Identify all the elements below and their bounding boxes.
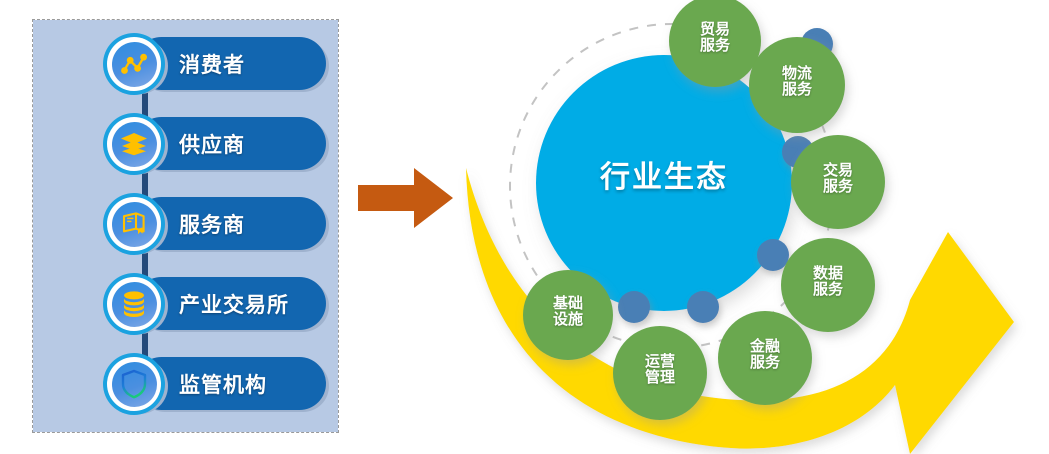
badge-white-ring: [107, 357, 161, 411]
data-services-circle: [781, 238, 875, 332]
badge-white-ring: [107, 197, 161, 251]
network-nodes-icon: [119, 51, 149, 77]
badge-white-ring: [107, 117, 161, 171]
badge-inner-disc: [112, 282, 157, 327]
participant-row-0[interactable]: 消费者: [33, 32, 338, 100]
ecosystem-diagram: 行业生态 贸易 服务 物流 服务 交易 服务 数据 服务 金融 服务 运营 管理…: [440, 0, 1049, 454]
participant-badge-3[interactable]: [103, 273, 165, 335]
certificate-book-icon: [120, 210, 148, 238]
badge-inner-disc: [112, 122, 157, 167]
logistics-services-circle: [749, 37, 845, 133]
participant-list-panel[interactable]: 消费者: [33, 20, 338, 432]
stacked-layers-icon: [120, 131, 148, 157]
accent-dot-3: [618, 291, 650, 323]
participant-label-3: 产业交易所: [179, 289, 289, 319]
financial-services-circle: [718, 311, 812, 405]
participant-row-1[interactable]: 供应商: [33, 112, 338, 180]
participant-label-0: 消费者: [179, 49, 245, 79]
badge-inner-disc: [112, 362, 157, 407]
participant-badge-2[interactable]: [103, 193, 165, 255]
database-stack-icon: [121, 290, 147, 318]
badge-inner-disc: [112, 42, 157, 87]
accent-dot-4: [687, 291, 719, 323]
participant-label-1: 供应商: [179, 129, 245, 159]
badge-white-ring: [107, 37, 161, 91]
participant-badge-0[interactable]: [103, 33, 165, 95]
badge-white-ring: [107, 277, 161, 331]
participant-badge-4[interactable]: [103, 353, 165, 415]
infrastructure-circle: [523, 270, 613, 360]
participant-row-4[interactable]: 监管机构: [33, 352, 338, 420]
shield-plus-icon: [120, 369, 148, 399]
accent-dot-2: [757, 239, 789, 271]
participant-badge-1[interactable]: [103, 113, 165, 175]
ecosystem-svg: [440, 0, 1049, 454]
transaction-services-circle: [791, 135, 885, 229]
participant-label-4: 监管机构: [179, 369, 267, 399]
diagram-canvas: 消费者: [0, 0, 1049, 454]
badge-inner-disc: [112, 202, 157, 247]
participant-row-3[interactable]: 产业交易所: [33, 272, 338, 340]
participant-label-2: 服务商: [179, 209, 245, 239]
participant-row-2[interactable]: 服务商: [33, 192, 338, 260]
operations-management-circle: [613, 326, 707, 420]
